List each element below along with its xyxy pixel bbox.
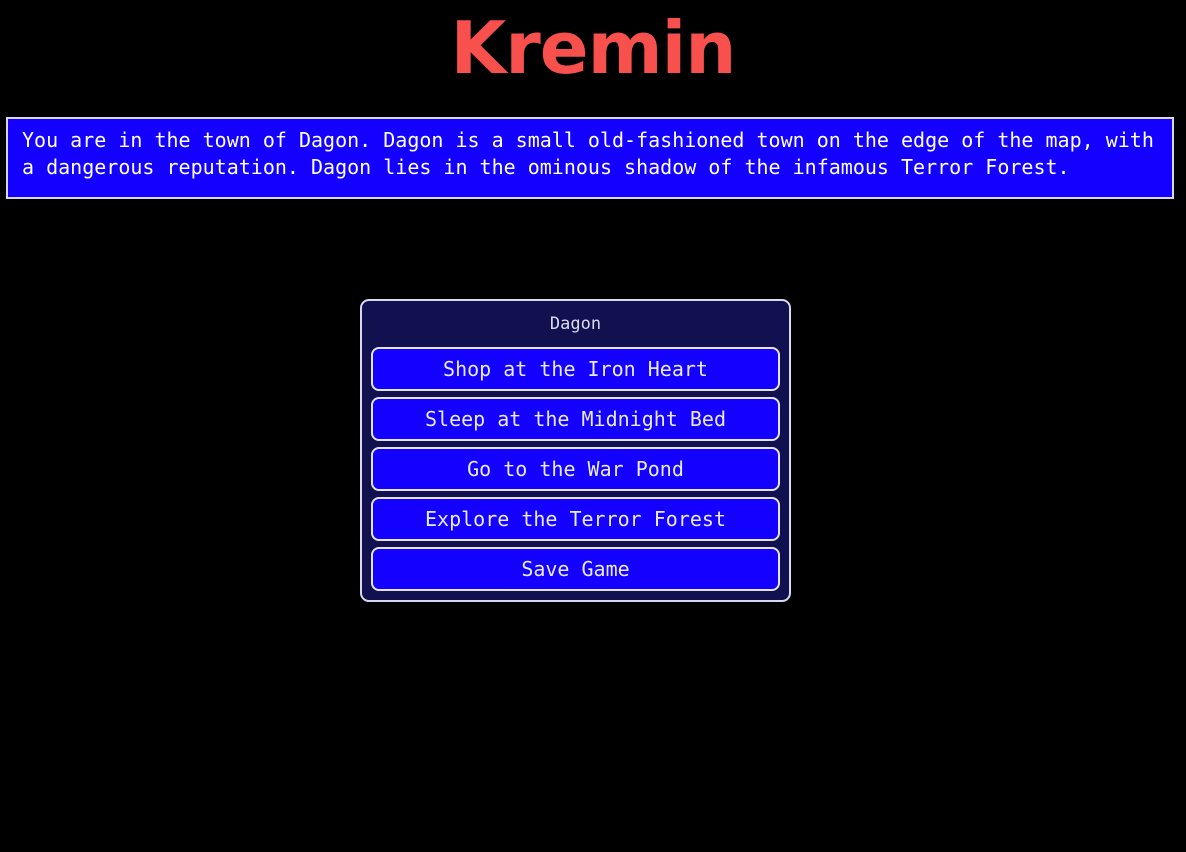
menu-option-sleep-midnight-bed[interactable]: Sleep at the Midnight Bed — [371, 397, 780, 441]
location-name-heading: Dagon — [371, 308, 780, 347]
narrative-message-box: You are in the town of Dagon. Dagon is a… — [6, 117, 1174, 199]
game-title: Kremin — [0, 0, 1186, 96]
menu-option-go-war-pond[interactable]: Go to the War Pond — [371, 447, 780, 491]
location-menu-panel: Dagon Shop at the Iron Heart Sleep at th… — [360, 299, 791, 602]
menu-option-shop-iron-heart[interactable]: Shop at the Iron Heart — [371, 347, 780, 391]
menu-option-explore-terror-forest[interactable]: Explore the Terror Forest — [371, 497, 780, 541]
narrative-message-text: You are in the town of Dagon. Dagon is a… — [22, 127, 1158, 181]
menu-option-save-game[interactable]: Save Game — [371, 547, 780, 591]
